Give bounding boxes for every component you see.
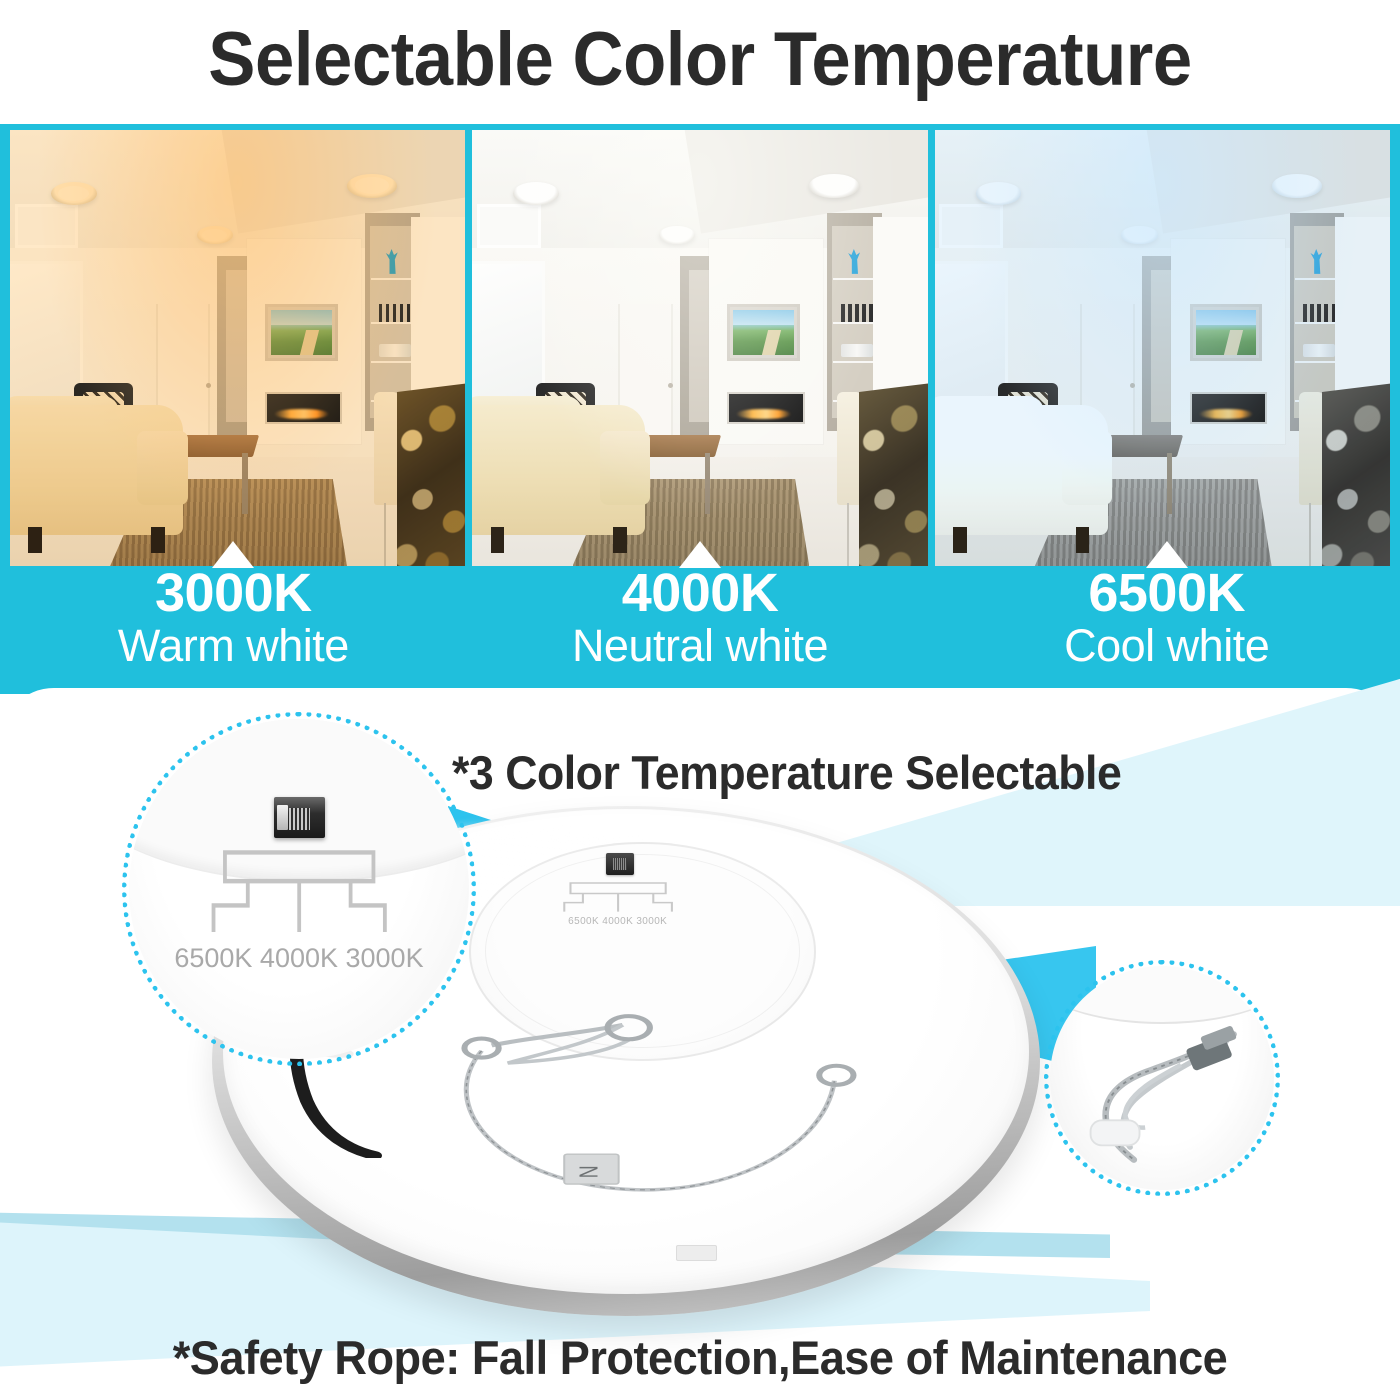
color-temperature-labels: 3000K Warm white 4000K Neutral white 650… [0, 566, 1400, 694]
feature-heading: *3 Color Temperature Selectable [452, 745, 1231, 801]
color-temperature-option-6500k[interactable]: 6500K Cool white [933, 566, 1400, 694]
room-scene [935, 130, 1390, 566]
safety-rope-icon: N [411, 1010, 875, 1214]
color-temperature-switch[interactable] [606, 853, 634, 875]
color-temperature-band: 3000K Warm white 4000K Neutral white 650… [0, 124, 1400, 694]
room-photo-6500k [935, 130, 1390, 566]
kelvin-value: 3000K [0, 566, 467, 621]
switch-detail-callout: 6500K 4000K 3000K [122, 712, 476, 1066]
room-scene [472, 130, 927, 566]
room-scene [10, 130, 465, 566]
color-temperature-option-4000k[interactable]: 4000K Neutral white [467, 566, 934, 694]
svg-text:N: N [574, 1165, 603, 1178]
fixture-switch-label: 6500K 4000K 3000K [535, 916, 701, 927]
kelvin-value: 6500K [933, 566, 1400, 621]
triangle-up-icon [1146, 541, 1188, 568]
kelvin-name: Neutral white [467, 621, 934, 671]
page-title: Selectable Color Temperature [49, 4, 1351, 114]
room-photo-4000k [472, 130, 927, 566]
infographic-page: Selectable Color Temperature [0, 0, 1400, 1400]
safety-rope-detail-callout [1044, 960, 1280, 1196]
color-temperature-option-3000k[interactable]: 3000K Warm white [0, 566, 467, 694]
kelvin-name: Warm white [0, 621, 467, 671]
triangle-up-icon [212, 541, 254, 568]
kelvin-value: 4000K [467, 566, 934, 621]
room-comparison-row [10, 130, 1390, 566]
room-photo-3000k [10, 130, 465, 566]
footer-caption: *Safety Rope: Fall Protection,Ease of Ma… [28, 1330, 1372, 1392]
triangle-up-icon [679, 541, 721, 568]
kelvin-name: Cool white [933, 621, 1400, 671]
switch-bracket-icon [556, 880, 680, 913]
